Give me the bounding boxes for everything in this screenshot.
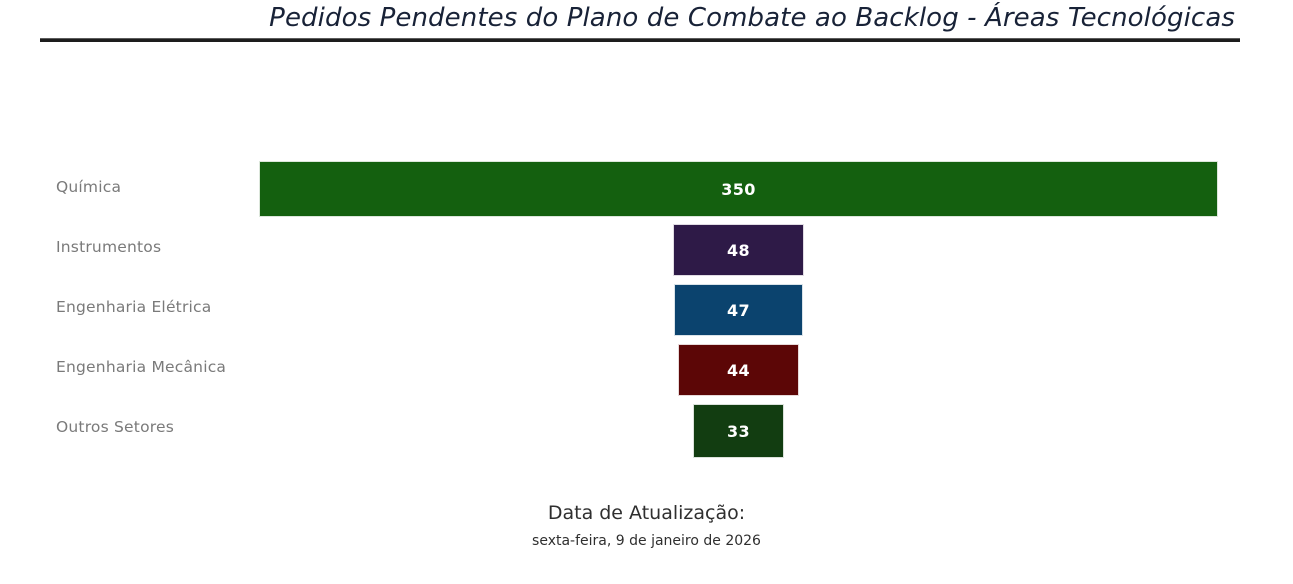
bar-category-label: Engenharia Elétrica (56, 298, 256, 316)
bar-segment[interactable]: 350 (259, 161, 1218, 217)
bar-category-label: Química (56, 178, 256, 196)
bar-segment[interactable]: 47 (674, 284, 803, 336)
bar-segment[interactable]: 33 (693, 404, 783, 458)
bar-value-label: 48 (727, 241, 750, 260)
title-divider (40, 38, 1240, 42)
bar-value-label: 47 (727, 301, 750, 320)
page-title: Pedidos Pendentes do Plano de Combate ao… (0, 0, 1293, 36)
bar-segment[interactable]: 44 (678, 344, 799, 396)
update-date-label: Data de Atualização: (0, 500, 1293, 526)
bar-value-label: 33 (727, 422, 750, 441)
bar-segment[interactable]: 48 (673, 224, 805, 276)
bar-chart-plot-area: Química350Instrumentos48Engenharia Elétr… (0, 140, 1293, 480)
update-date-value: sexta-feira, 9 de janeiro de 2026 (0, 530, 1293, 552)
footer: Data de Atualização: sexta-feira, 9 de j… (0, 500, 1293, 552)
bar-value-label: 44 (727, 361, 750, 380)
bar-value-label: 350 (721, 180, 756, 199)
bar-category-label: Outros Setores (56, 418, 256, 436)
bar-category-label: Instrumentos (56, 238, 256, 256)
bar-category-label: Engenharia Mecânica (56, 358, 256, 376)
